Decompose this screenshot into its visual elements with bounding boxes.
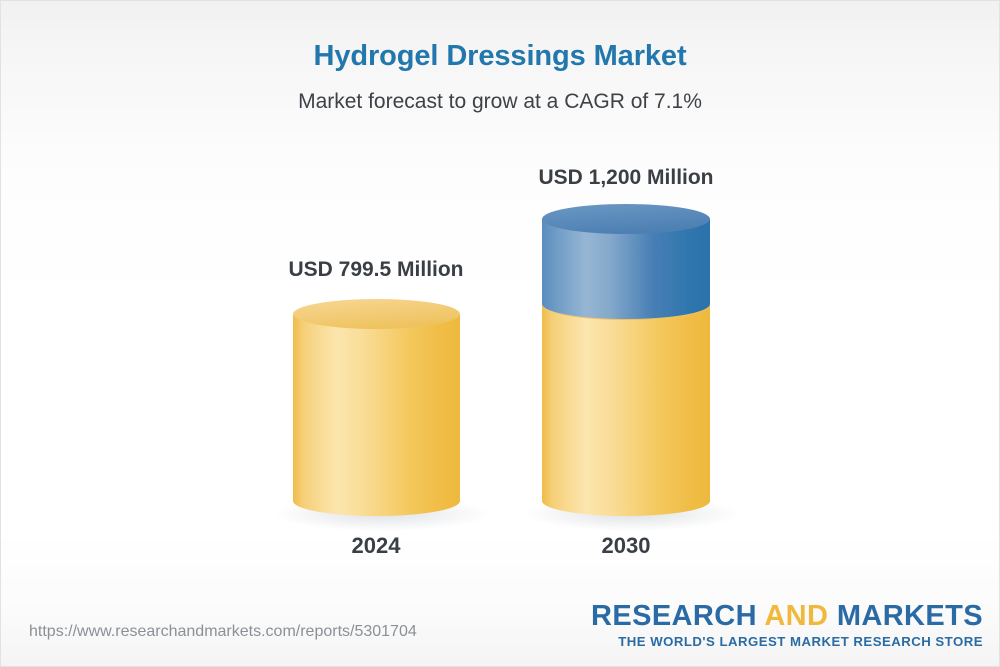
cylinder-bar-chart	[1, 1, 1000, 667]
logo-word-markets: MARKETS	[837, 600, 983, 632]
research-and-markets-logo[interactable]: RESEARCH AND MARKETS THE WORLD'S LARGEST…	[591, 601, 983, 649]
report-url[interactable]: https://www.researchandmarkets.com/repor…	[29, 623, 417, 641]
bar-2024[interactable]	[274, 299, 490, 531]
bar-2030-base-body	[542, 305, 710, 516]
logo-word-research: RESEARCH	[591, 600, 764, 632]
bar-2024-base-top	[293, 299, 460, 329]
logo-word-and: AND	[764, 600, 837, 632]
bar-2024-base-body	[293, 314, 460, 516]
bar-2030-growth-top	[542, 204, 710, 234]
logo-wordmark: RESEARCH AND MARKETS	[591, 601, 983, 631]
bar-value-label-2030: USD 1,200 Million	[456, 166, 796, 190]
bar-value-label-2024: USD 799.5 Million	[206, 258, 546, 282]
bar-category-label-2030: 2030	[456, 533, 796, 559]
chart-canvas: Hydrogel Dressings Market Market forecas…	[0, 0, 1000, 667]
bar-2030[interactable]	[524, 204, 740, 531]
logo-tagline: THE WORLD'S LARGEST MARKET RESEARCH STOR…	[591, 634, 983, 649]
